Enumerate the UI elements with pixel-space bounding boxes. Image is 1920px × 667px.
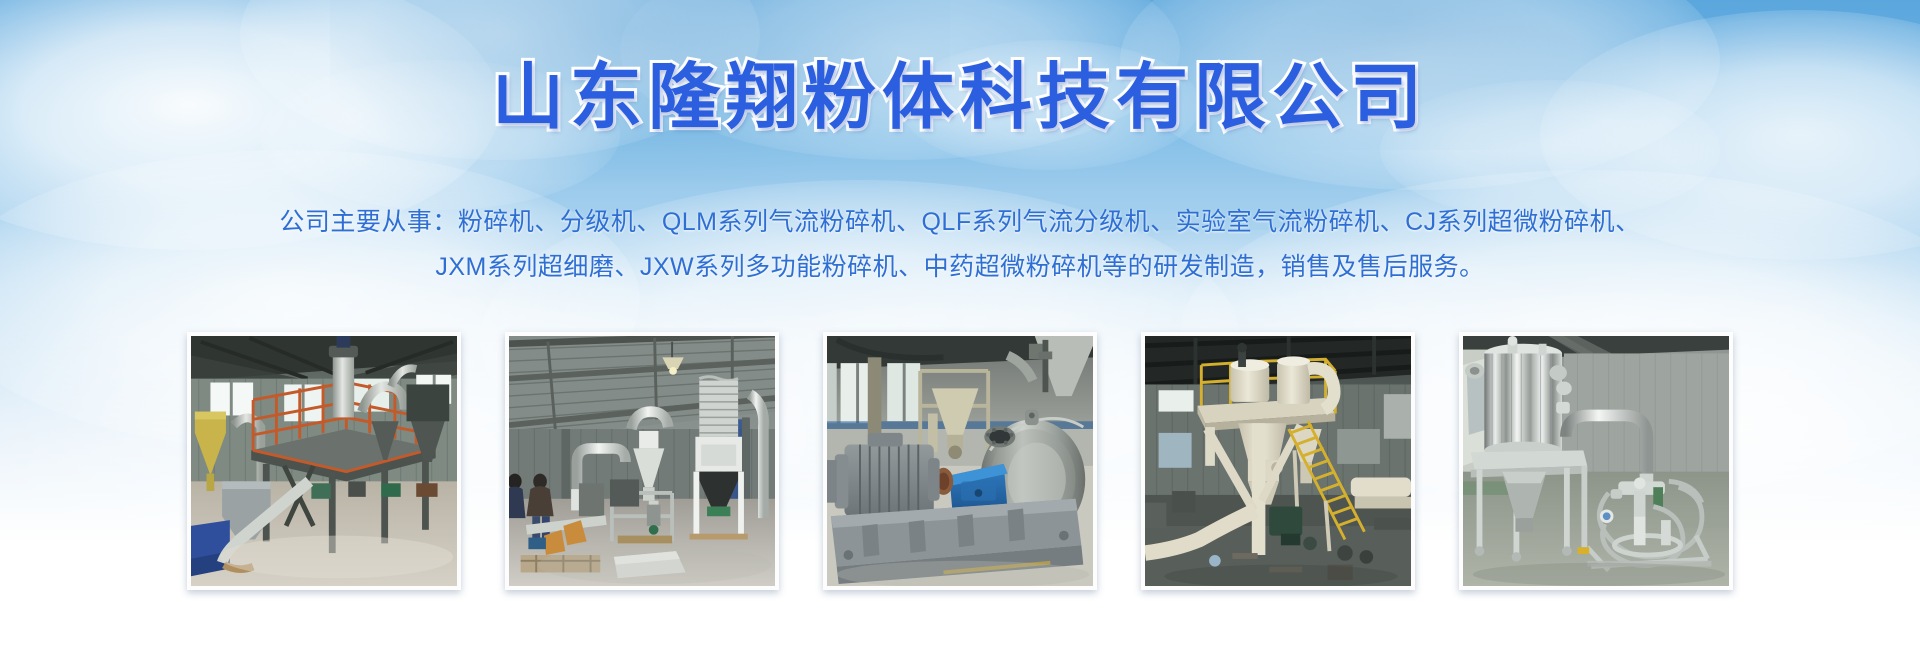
classifier-tower-photo [1145,336,1411,586]
workshop-cyclone-line-photo [509,336,775,586]
photo-frame [1463,336,1729,586]
photo-frame [509,336,775,586]
photo-frame [827,336,1093,586]
intro-line-1: 公司主要从事：粉碎机、分级机、QLM系列气流粉碎机、QLF系列气流分级机、实验室… [0,200,1920,245]
gallery-item-motor-blower-unit[interactable]: 电机与风机机组 [823,332,1097,590]
workshop-platform-mill-photo [191,336,457,586]
sky-haze [330,610,590,667]
page-title: 山东隆翔粉体科技有限公司 [0,58,1920,138]
intro-line-2: JXM系列超细磨、JXW系列多功能粉碎机、中药超微粉碎机等的研发制造，销售及售后… [0,245,1920,290]
gallery-item-workshop-platform-mill[interactable]: 车间粉碎机生产线平台 [187,332,461,590]
stainless-dryer-unit-photo [1463,336,1729,586]
photo-frame [1145,336,1411,586]
photo-frame [191,336,457,586]
company-intro: 公司主要从事：粉碎机、分级机、QLM系列气流粉碎机、QLF系列气流分级机、实验室… [0,200,1920,290]
product-photo-gallery: 车间粉碎机生产线平台 [0,332,1920,590]
gallery-item-classifier-tower[interactable]: 分级机塔架设备 [1141,332,1415,590]
gallery-item-stainless-dryer-unit[interactable]: 不锈钢喷雾干燥机组 [1459,332,1733,590]
motor-blower-unit-photo [827,336,1093,586]
gallery-item-workshop-cyclone-line[interactable]: 车间气流粉碎分级生产线 [505,332,779,590]
